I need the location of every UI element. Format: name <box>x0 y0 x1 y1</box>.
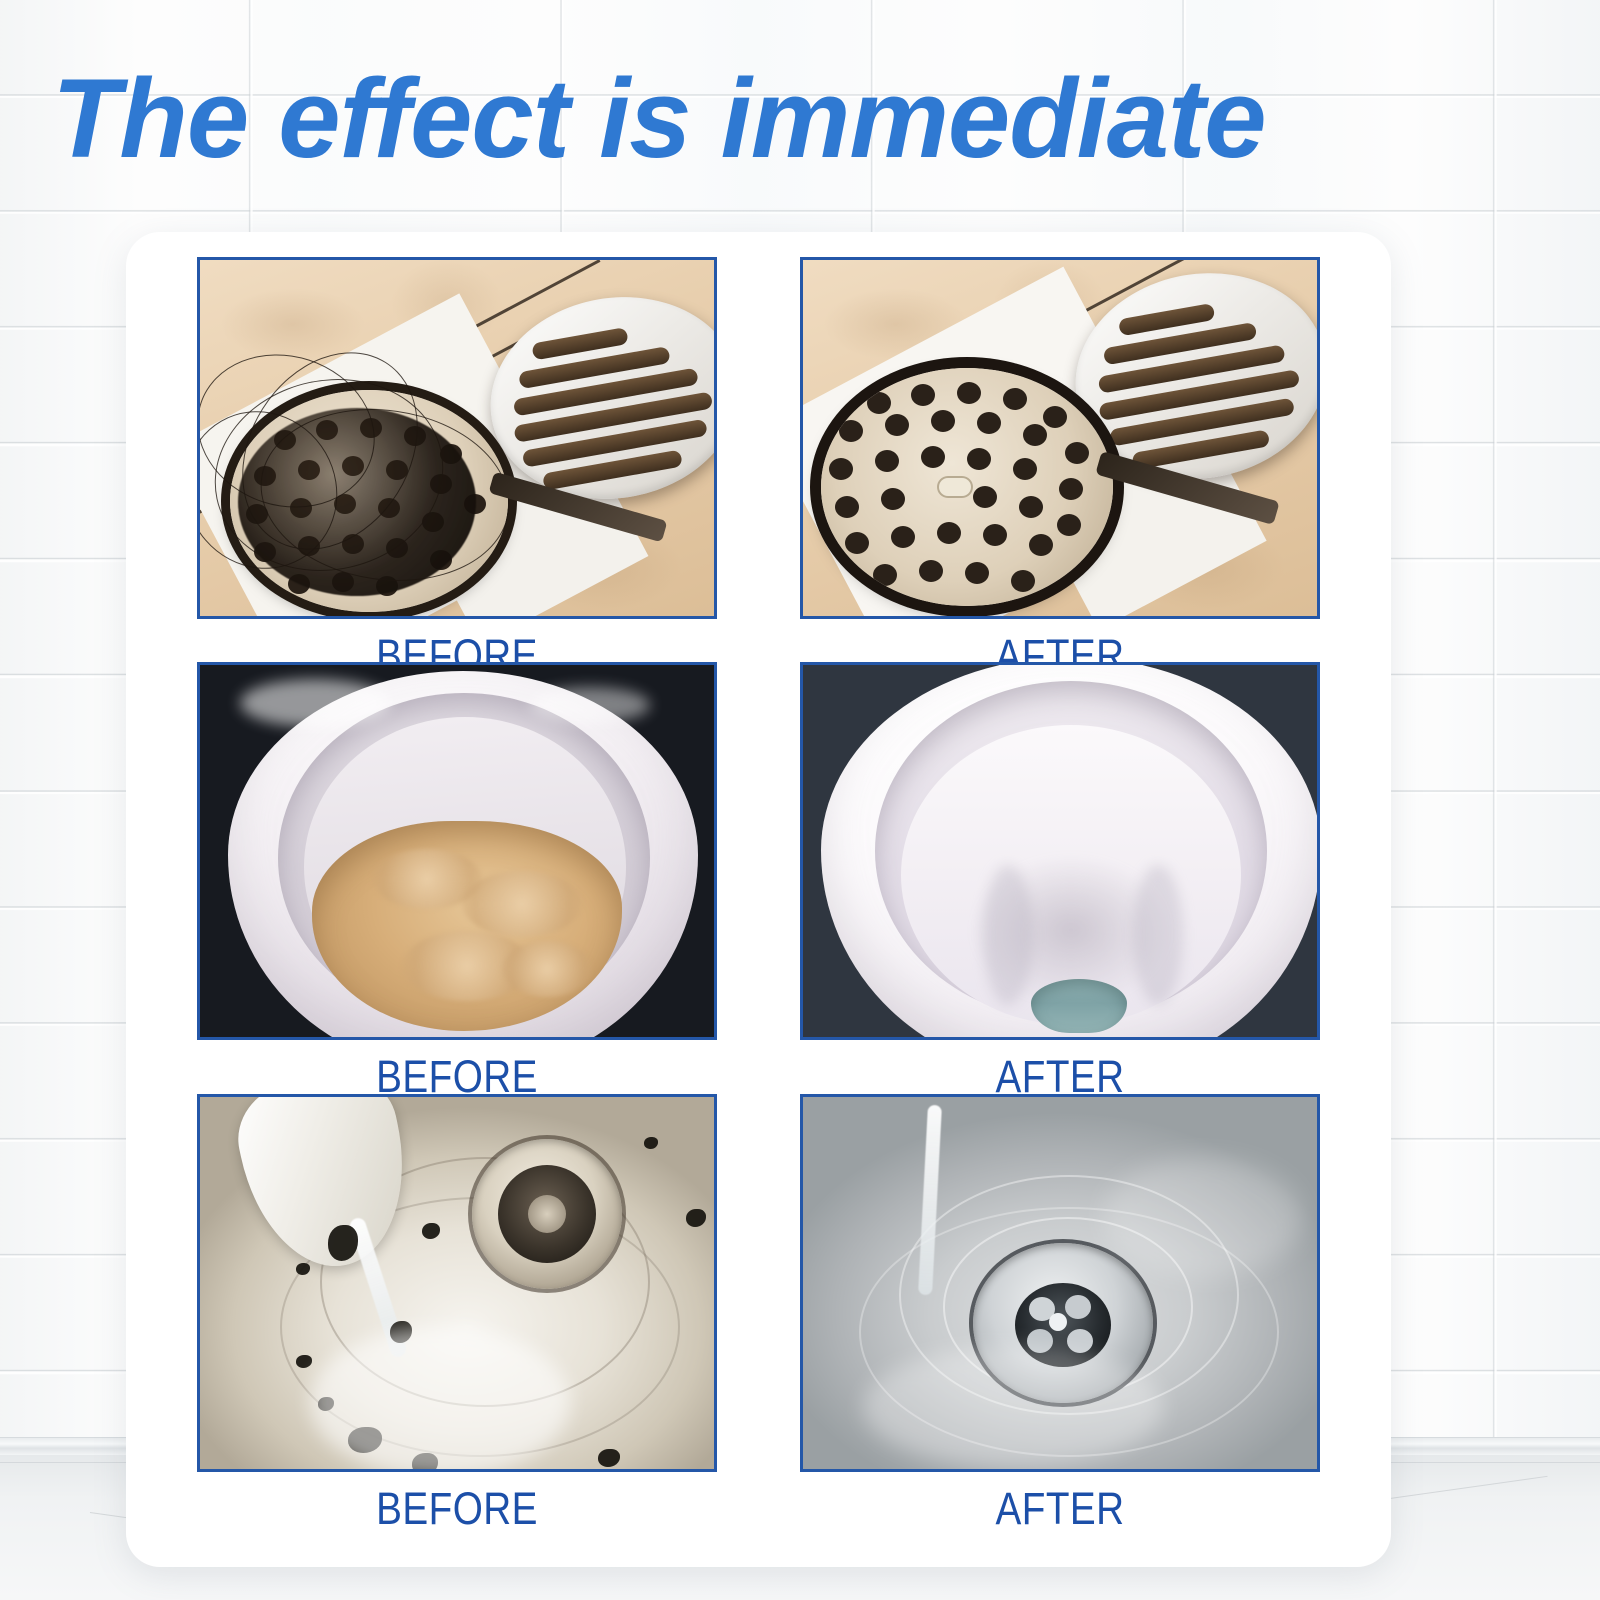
cell-toilet-before: BEFORE <box>197 662 717 1103</box>
comparison-card: BEFORE <box>126 232 1391 1567</box>
comparison-row-toilet: BEFORE <box>126 662 1391 1103</box>
cell-sink-before: BEFORE <box>197 1094 717 1535</box>
drain-basket <box>821 368 1113 606</box>
cell-floor-drain-before: BEFORE <box>197 257 717 682</box>
comparison-row-sink: BEFORE <box>126 1094 1391 1535</box>
clean-water <box>1031 979 1127 1033</box>
photo-toilet-before <box>197 662 717 1040</box>
comparison-grid: BEFORE <box>126 232 1391 1567</box>
caption-before: BEFORE <box>376 1483 538 1535</box>
photo-sink-before <box>197 1094 717 1472</box>
photo-toilet-after <box>800 662 1320 1040</box>
photo-sink-after <box>800 1094 1320 1472</box>
cell-sink-after: AFTER <box>800 1094 1320 1535</box>
photo-floor-drain-after <box>800 257 1320 619</box>
comparison-row-floor-drain: BEFORE <box>126 257 1391 682</box>
cell-toilet-after: AFTER <box>800 662 1320 1103</box>
caption-after: AFTER <box>995 1483 1124 1535</box>
cell-floor-drain-after: AFTER <box>800 257 1320 682</box>
sink-drain <box>472 1139 622 1289</box>
headline: The effect is immediate <box>52 62 1562 176</box>
product-comparison-poster: The effect is immediate <box>0 0 1600 1600</box>
photo-floor-drain-before <box>197 257 717 619</box>
